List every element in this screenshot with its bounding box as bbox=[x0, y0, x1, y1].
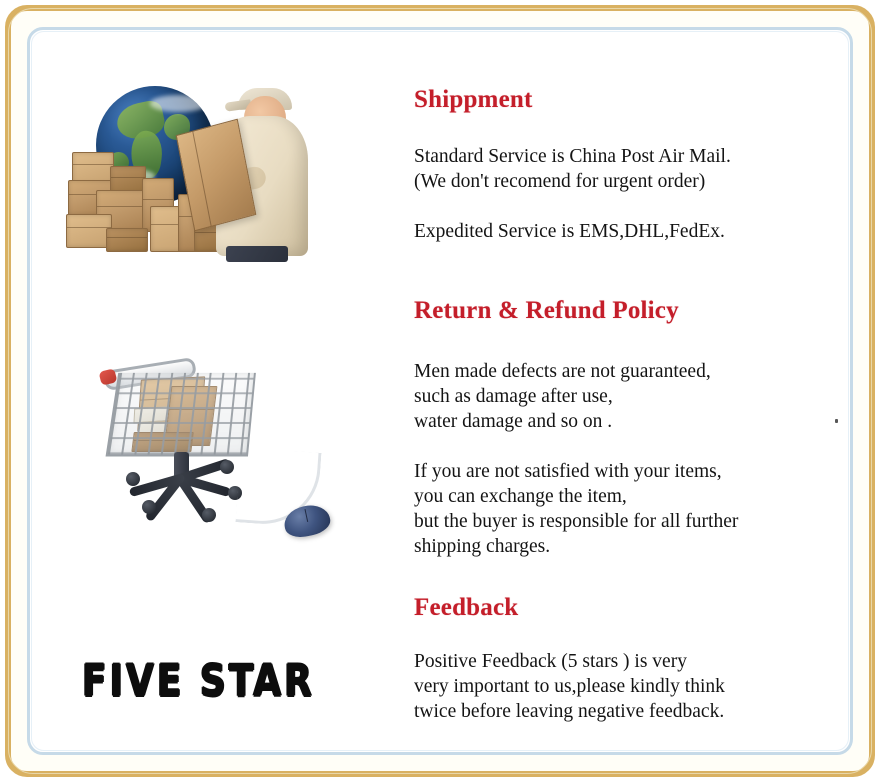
five-star-wordmark-text: FIVE STAR bbox=[82, 657, 315, 707]
illustration-column: FIVE STAR bbox=[54, 54, 394, 728]
heading-feedback: Feedback bbox=[414, 594, 518, 622]
paragraph-exchange: If you are not satisfied with your items… bbox=[414, 459, 738, 559]
paragraph-feedback: Positive Feedback (5 stars ) is very ver… bbox=[414, 649, 725, 724]
inner-blue-frame: FIVE STAR Shippment Standard Service is … bbox=[27, 27, 853, 755]
banner-content: FIVE STAR Shippment Standard Service is … bbox=[54, 54, 826, 728]
policy-text-column: Shippment Standard Service is China Post… bbox=[406, 54, 826, 728]
five-star-wordmark: FIVE STAR bbox=[82, 657, 382, 716]
paragraph-defects: Men made defects are not guaranteed, suc… bbox=[414, 359, 711, 434]
heading-shipment: Shippment bbox=[414, 86, 533, 114]
heading-return-refund: Return & Refund Policy bbox=[414, 297, 679, 325]
outer-gold-frame: FIVE STAR Shippment Standard Service is … bbox=[5, 5, 875, 777]
paragraph-shipment-expedited: Expedited Service is EMS,DHL,FedEx. bbox=[414, 219, 725, 244]
cart-basket bbox=[106, 373, 256, 457]
cart-chair-base bbox=[124, 458, 244, 522]
globe-courier-parcels-illustration bbox=[66, 74, 326, 259]
shopping-cart-mouse-illustration bbox=[88, 354, 338, 554]
courier-legs bbox=[226, 246, 288, 262]
image-speck-artifact bbox=[835, 419, 838, 423]
shipping-policy-banner: FIVE STAR Shippment Standard Service is … bbox=[0, 0, 880, 782]
paragraph-shipment-standard: Standard Service is China Post Air Mail.… bbox=[414, 144, 731, 194]
